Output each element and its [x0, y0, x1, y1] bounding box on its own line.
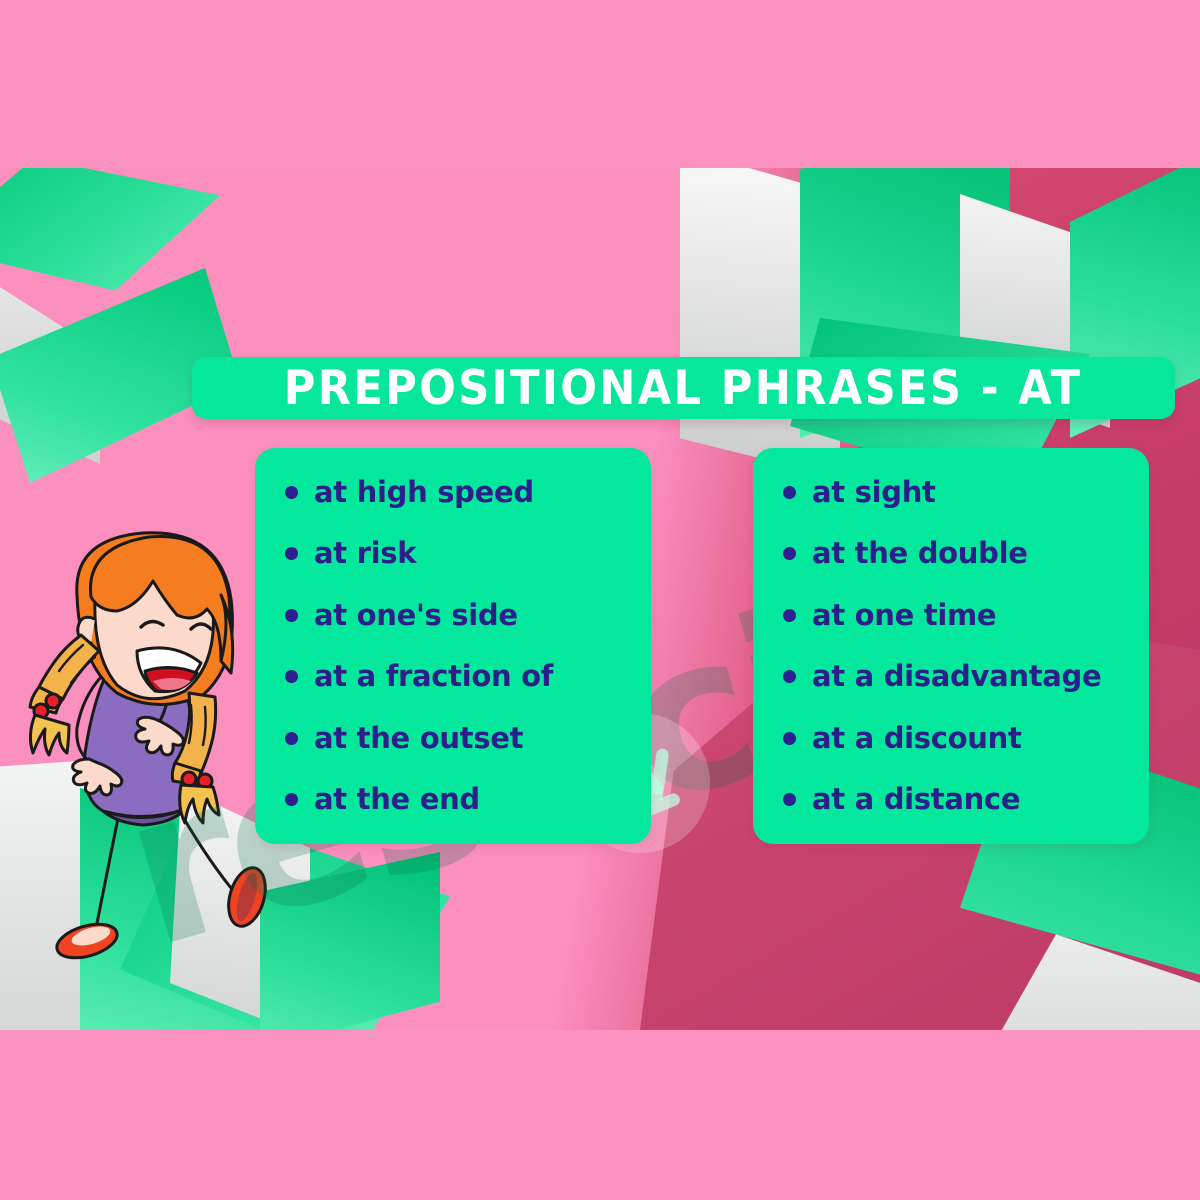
bullet-icon — [783, 486, 796, 499]
list-item: at sight — [753, 470, 1149, 514]
list-item: at one time — [753, 593, 1149, 637]
list-item: at the end — [255, 778, 651, 822]
list-item: at the outset — [255, 716, 651, 760]
title-banner: PREPOSITIONAL PHRASES - AT — [192, 357, 1175, 419]
bullet-icon — [783, 732, 796, 745]
list-item: at risk — [255, 532, 651, 576]
bullet-icon — [285, 609, 298, 622]
bullet-icon — [783, 670, 796, 683]
phrase-card-left: at high speed at risk at one's side at a… — [255, 448, 651, 844]
poster-root: res rci — [0, 0, 1200, 1200]
bullet-icon — [285, 670, 298, 683]
bullet-icon — [783, 609, 796, 622]
cube-top-left — [0, 168, 220, 458]
phrase-label: at the end — [314, 785, 480, 814]
bullet-icon — [285, 793, 298, 806]
phrase-label: at a distance — [812, 785, 1020, 814]
list-item: at the double — [753, 532, 1149, 576]
phrase-label: at one's side — [314, 601, 518, 630]
page-title: PREPOSITIONAL PHRASES - AT — [284, 365, 1083, 412]
phrase-label: at sight — [812, 478, 936, 507]
phrase-label: at a disadvantage — [812, 662, 1101, 691]
bullet-icon — [285, 486, 298, 499]
phrase-label: at the double — [812, 539, 1028, 568]
phrase-label: at risk — [314, 539, 416, 568]
phrase-label: at high speed — [314, 478, 534, 507]
list-item: at one's side — [255, 593, 651, 637]
phrase-label: at one time — [812, 601, 996, 630]
list-item: at high speed — [255, 470, 651, 514]
phrase-label: at a fraction of — [314, 662, 553, 691]
phrase-label: at a discount — [812, 724, 1022, 753]
bullet-icon — [285, 547, 298, 560]
bullet-icon — [783, 547, 796, 560]
list-item: at a fraction of — [255, 655, 651, 699]
bullet-icon — [285, 732, 298, 745]
phrase-card-right: at sight at the double at one time at a … — [753, 448, 1149, 844]
bullet-icon — [783, 793, 796, 806]
phrase-label: at the outset — [314, 724, 523, 753]
list-item: at a distance — [753, 778, 1149, 822]
list-item: at a discount — [753, 716, 1149, 760]
list-item: at a disadvantage — [753, 655, 1149, 699]
